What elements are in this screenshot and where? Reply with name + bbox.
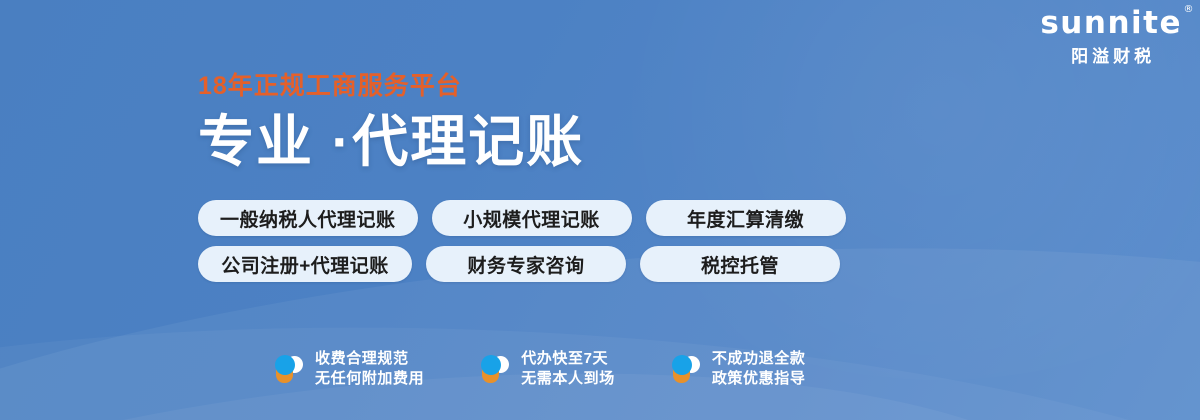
feature-line-secondary: 无任何附加费用 (315, 369, 424, 389)
logo-wordmark: sunnite ® (1040, 8, 1182, 39)
service-pill-company-registration[interactable]: 公司注册+代理记账 (198, 246, 412, 282)
circle-badge-icon (671, 353, 701, 385)
logo-wordmark-text: sunnite (1040, 5, 1182, 41)
eyebrow-text: 18年正规工商服务平台 (198, 74, 958, 99)
feature-item-speed: 代办快至7天 无需本人到场 (480, 349, 615, 389)
headline-block: 18年正规工商服务平台 专业 ·代理记账 (198, 74, 958, 174)
feature-line-secondary: 无需本人到场 (521, 369, 615, 389)
registered-trademark-icon: ® (1184, 5, 1196, 15)
feature-item-refund: 不成功退全款 政策优惠指导 (671, 349, 806, 389)
brand-logo[interactable]: sunnite ® 阳溢财税 (1040, 8, 1182, 65)
page-title: 专业 ·代理记账 (198, 111, 958, 174)
circle-badge-cyan-part (275, 355, 295, 375)
service-pill-row-1: 一般纳税人代理记账 小规模代理记账 年度汇算清缴 (198, 200, 938, 236)
promotional-banner: sunnite ® 阳溢财税 18年正规工商服务平台 专业 ·代理记账 一般纳税… (0, 0, 1200, 420)
circle-badge-cyan-part (481, 355, 501, 375)
circle-badge-icon (274, 353, 304, 385)
feature-line-primary: 收费合理规范 (315, 349, 424, 369)
circle-badge-icon (480, 353, 510, 385)
feature-list: 收费合理规范 无任何附加费用 代办快至7天 无需本人到场 不成功退全款 (274, 349, 805, 389)
service-pill-expert-consultation[interactable]: 财务专家咨询 (426, 246, 626, 282)
service-pill-tax-control-custody[interactable]: 税控托管 (640, 246, 840, 282)
feature-text-refund: 不成功退全款 政策优惠指导 (712, 349, 806, 389)
feature-text-speed: 代办快至7天 无需本人到场 (521, 349, 615, 389)
feature-text-pricing: 收费合理规范 无任何附加费用 (315, 349, 424, 389)
service-pill-small-scale[interactable]: 小规模代理记账 (432, 200, 632, 236)
circle-badge-cyan-part (672, 355, 692, 375)
service-pill-general-taxpayer[interactable]: 一般纳税人代理记账 (198, 200, 418, 236)
service-pill-row-2: 公司注册+代理记账 财务专家咨询 税控托管 (198, 246, 938, 282)
feature-line-primary: 不成功退全款 (712, 349, 806, 369)
feature-line-secondary: 政策优惠指导 (712, 369, 806, 389)
feature-line-primary: 代办快至7天 (521, 349, 615, 369)
service-pill-group: 一般纳税人代理记账 小规模代理记账 年度汇算清缴 公司注册+代理记账 财务专家咨… (198, 200, 938, 292)
logo-chinese-name: 阳溢财税 (1040, 48, 1182, 65)
feature-item-pricing: 收费合理规范 无任何附加费用 (274, 349, 424, 389)
service-pill-annual-settlement[interactable]: 年度汇算清缴 (646, 200, 846, 236)
